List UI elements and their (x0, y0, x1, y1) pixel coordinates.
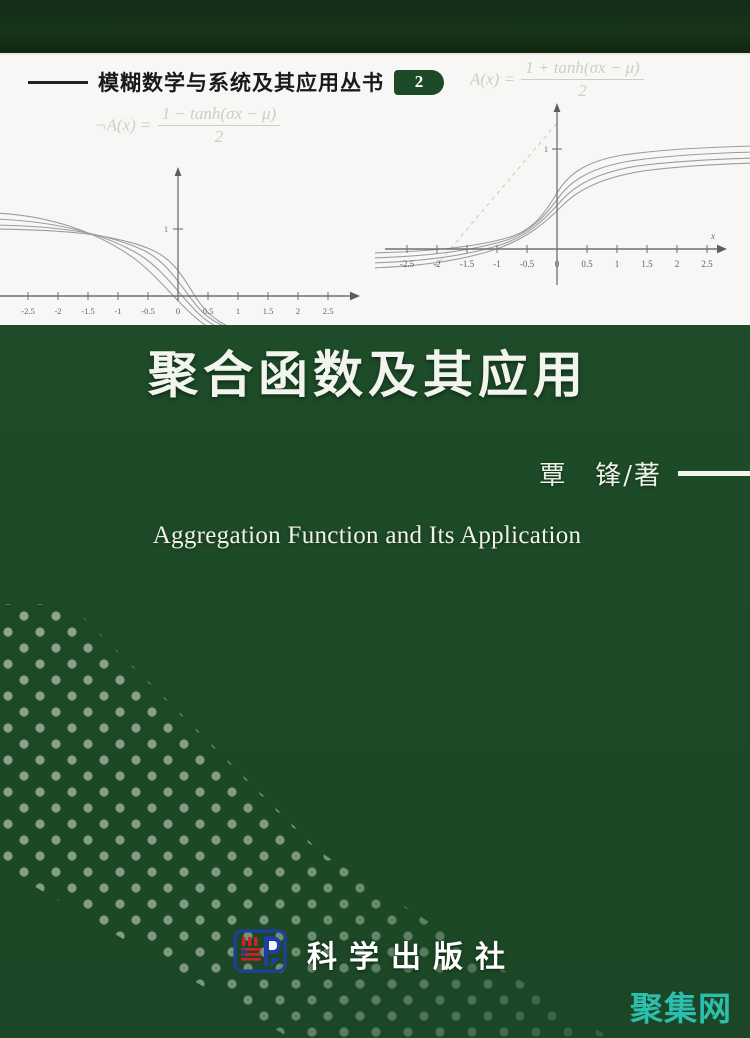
formula-left-lhs: ¬A(x) = (95, 115, 151, 134)
svg-text:-0.5: -0.5 (141, 306, 154, 316)
formula-aggregation: A(x) = 1 + tanh(σx − μ) 2 (470, 59, 646, 102)
formula-negated-aggregation: ¬A(x) = 1 − tanh(σx − μ) 2 (95, 105, 282, 148)
subtitle-english: Aggregation Function and Its Application (0, 522, 750, 550)
formula-left-fraction: 1 − tanh(σx − μ) 2 (158, 104, 280, 147)
svg-text:-1.5: -1.5 (460, 259, 475, 269)
book-cover: 1 -2.5 -2 -1. (0, 0, 750, 1038)
publisher-row: 科学出版社 (0, 928, 750, 979)
series-rule (28, 81, 88, 84)
science-press-logo-icon (233, 928, 289, 979)
svg-text:2.5: 2.5 (323, 306, 334, 316)
formula-right-lhs: A(x) = (470, 69, 515, 88)
formula-right-numerator: 1 + tanh(σx − μ) (521, 58, 643, 80)
author-row: 覃 锋/著 (539, 455, 750, 492)
svg-text:1: 1 (544, 145, 548, 154)
formula-right-fraction: 1 + tanh(σx − μ) 2 (521, 58, 643, 101)
svg-text:-2.5: -2.5 (400, 259, 415, 269)
svg-text:-1: -1 (493, 259, 501, 269)
svg-text:-2: -2 (54, 306, 61, 316)
svg-text:0: 0 (176, 306, 180, 316)
header-white-panel: 1 -2.5 -2 -1. (0, 53, 750, 325)
sp-logo-svg (233, 928, 289, 974)
formula-left-numerator: 1 − tanh(σx − μ) (158, 104, 280, 126)
series-number-badge: 2 (394, 70, 444, 95)
svg-text:0: 0 (555, 259, 560, 269)
svg-text:x: x (710, 231, 715, 241)
svg-text:1: 1 (164, 225, 168, 234)
svg-text:1.5: 1.5 (263, 306, 274, 316)
svg-text:0.5: 0.5 (203, 306, 214, 316)
author-name: 覃 锋/著 (539, 455, 662, 492)
top-dark-strip (0, 0, 750, 53)
svg-text:-0.5: -0.5 (520, 259, 535, 269)
svg-text:0.5: 0.5 (581, 259, 593, 269)
svg-text:2.5: 2.5 (701, 259, 713, 269)
series-heading: 模糊数学与系统及其应用丛书 2 (28, 67, 444, 97)
svg-text:1: 1 (615, 259, 620, 269)
svg-text:-1.5: -1.5 (81, 306, 94, 316)
author-rule (678, 471, 750, 476)
svg-text:1.5: 1.5 (641, 259, 653, 269)
svg-text:-1: -1 (114, 306, 121, 316)
svg-text:2: 2 (296, 306, 300, 316)
svg-text:-2: -2 (433, 259, 441, 269)
formula-left-denominator: 2 (158, 126, 280, 147)
watermark: 聚集网 (630, 982, 732, 1030)
svg-text:-2.5: -2.5 (21, 306, 34, 316)
series-title: 模糊数学与系统及其应用丛书 (98, 67, 384, 97)
page-title: 聚合函数及其应用 (0, 335, 750, 407)
svg-text:2: 2 (675, 259, 680, 269)
svg-text:1: 1 (236, 306, 240, 316)
publisher-name: 科学出版社 (307, 932, 517, 976)
formula-right-denominator: 2 (521, 80, 643, 101)
